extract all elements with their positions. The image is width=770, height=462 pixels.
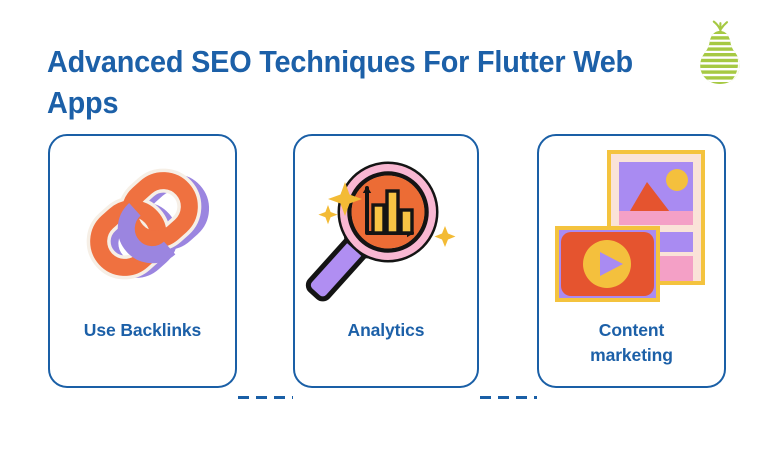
magnifying-glass-bar-chart-icon	[295, 142, 477, 312]
page-title: Advanced SEO Techniques For Flutter Web …	[47, 41, 642, 123]
infographic-canvas: Advanced SEO Techniques For Flutter Web …	[0, 0, 770, 462]
card-use-backlinks[interactable]: Use Backlinks	[48, 134, 237, 388]
card-label-content-marketing: Content marketing	[547, 318, 716, 368]
card-label-use-backlinks: Use Backlinks	[58, 318, 227, 343]
card-content-marketing[interactable]: Content marketing	[537, 134, 726, 388]
card-analytics[interactable]: Analytics	[293, 134, 479, 388]
cards-row: Use Backlinks	[0, 134, 770, 390]
video-player	[555, 226, 660, 302]
pear-logo-icon	[697, 20, 743, 86]
chain-link-icon	[50, 142, 235, 312]
connector-backlinks-to-analytics	[238, 396, 293, 399]
card-label-analytics: Analytics	[303, 318, 469, 343]
card-label-content-marketing-line1: Content	[599, 320, 664, 340]
content-media-icon	[539, 142, 724, 312]
card-label-content-marketing-line2: marketing	[590, 345, 673, 365]
header: Advanced SEO Techniques For Flutter Web …	[0, 0, 770, 128]
connector-analytics-to-content	[480, 396, 537, 399]
